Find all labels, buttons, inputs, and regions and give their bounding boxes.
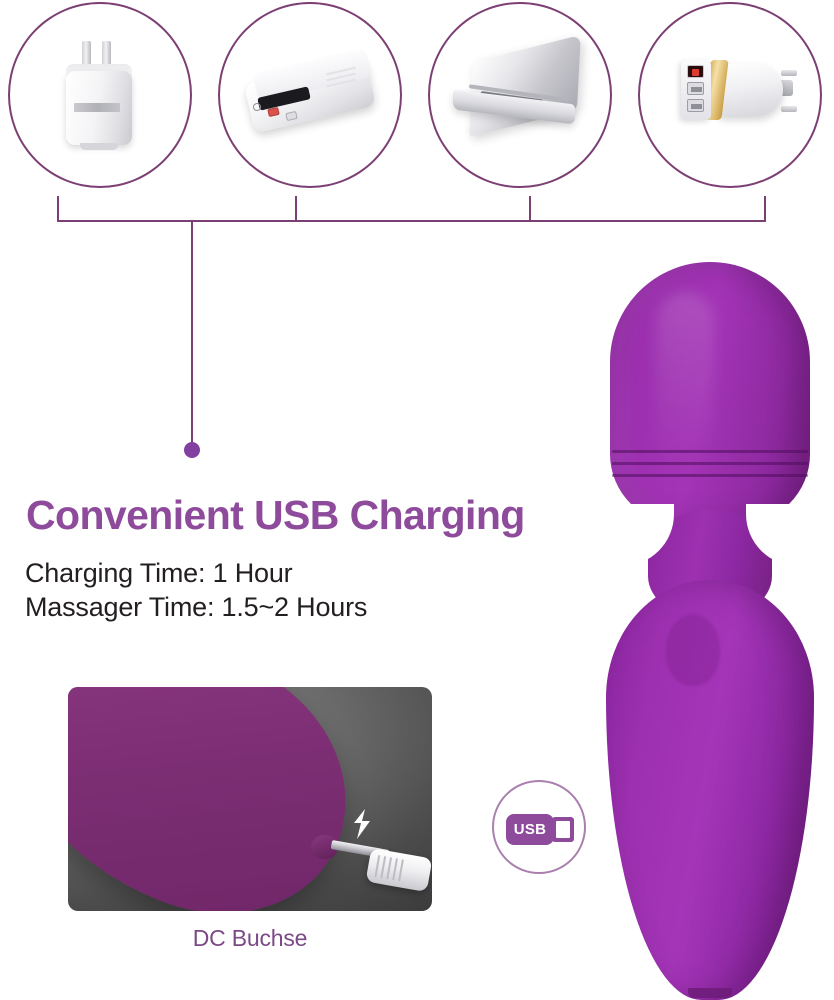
power-bank-icon (240, 40, 380, 150)
wall-charger-brand-mark (74, 103, 120, 112)
inset-charger-plug (366, 848, 432, 892)
car-charger-icon (655, 40, 805, 150)
charging-source-car-charger (638, 2, 822, 188)
inset-wand-body (68, 687, 389, 911)
product-groove (612, 474, 808, 477)
usb-badge: USB (492, 780, 586, 874)
product-groove (612, 450, 808, 453)
product-highlight (656, 292, 714, 472)
dc-socket-photo (68, 687, 432, 911)
spec-charging-time: Charging Time: 1 Hour (25, 558, 292, 589)
car-charger-usb-port (687, 99, 704, 112)
page-title: Convenient USB Charging (26, 492, 525, 539)
product-infographic: Convenient USB Charging Charging Time: 1… (0, 0, 834, 1000)
bracket-end-dot (184, 442, 200, 458)
car-charger-contact (781, 106, 797, 112)
product-head (610, 262, 810, 524)
bracket-horizontal (58, 196, 765, 221)
usb-badge-label: USB (506, 814, 554, 845)
charging-sources-row (0, 0, 834, 195)
spec-massager-time: Massager Time: 1.5~2 Hours (25, 592, 367, 623)
charging-source-power-bank (218, 2, 402, 188)
product-wand-massager (588, 262, 834, 1000)
usb-plug-icon: USB (506, 814, 554, 845)
car-charger-contact (781, 70, 797, 76)
laptop-icon (445, 35, 595, 155)
wall-charger-base (80, 143, 118, 150)
product-groove (612, 462, 808, 465)
usb-plug-tip (552, 817, 574, 842)
lightning-bolt-icon (352, 809, 372, 839)
product-base (688, 988, 732, 998)
charging-source-wall-charger (8, 2, 192, 188)
product-power-button (666, 614, 720, 686)
dc-socket-caption: DC Buchse (68, 925, 432, 952)
car-charger-led-display (687, 65, 704, 78)
wall-charger-icon (40, 35, 160, 155)
charging-source-laptop (428, 2, 612, 188)
car-charger-usb-port (687, 82, 704, 95)
